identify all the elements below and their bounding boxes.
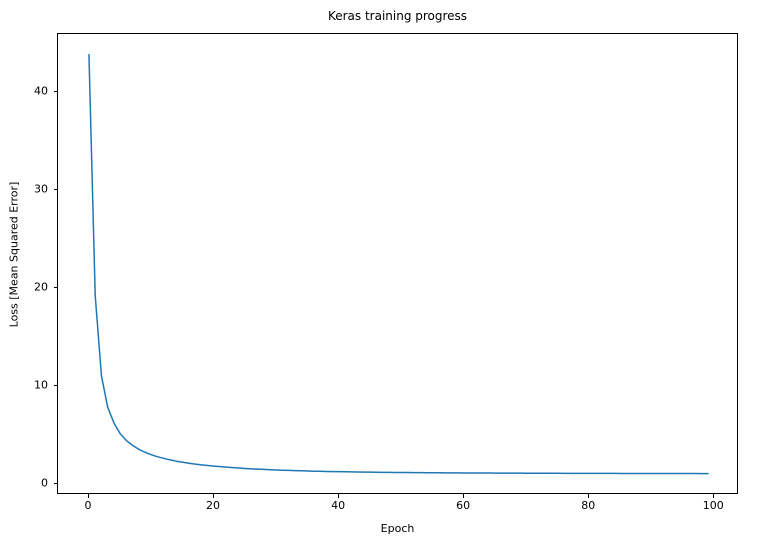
x-axis-tick-labels: 020406080100 [0, 500, 764, 516]
y-tick-label: 40 [34, 85, 48, 96]
y-tick-mark [54, 91, 58, 92]
x-tick-mark [213, 494, 214, 498]
plot-area [57, 33, 738, 494]
x-tick-label: 60 [456, 500, 470, 512]
x-tick-mark [463, 494, 464, 498]
page-title: Keras training progress [57, 8, 738, 24]
y-tick-label: 30 [34, 183, 48, 194]
x-tick-mark [88, 494, 89, 498]
x-tick-mark [588, 494, 589, 498]
x-tick-mark [713, 494, 714, 498]
x-tick-mark [338, 494, 339, 498]
y-tick-mark [54, 287, 58, 288]
y-axis-label: Loss [Mean Squared Error] [8, 155, 21, 355]
data-series-loss [89, 55, 708, 474]
y-tick-label: 10 [34, 379, 48, 390]
x-axis-label: Epoch [57, 522, 738, 535]
y-tick-mark [54, 385, 58, 386]
x-tick-label: 100 [703, 500, 724, 512]
line-chart-svg [58, 34, 739, 495]
y-tick-mark [54, 483, 58, 484]
y-tick-label: 20 [34, 281, 48, 292]
matplotlib-figure: Keras training progress 010203040 020406… [0, 0, 764, 547]
y-tick-label: 0 [41, 477, 48, 488]
x-tick-label: 80 [581, 500, 595, 512]
x-tick-label: 20 [206, 500, 220, 512]
y-tick-mark [54, 189, 58, 190]
x-tick-label: 40 [331, 500, 345, 512]
x-tick-label: 0 [84, 500, 91, 512]
